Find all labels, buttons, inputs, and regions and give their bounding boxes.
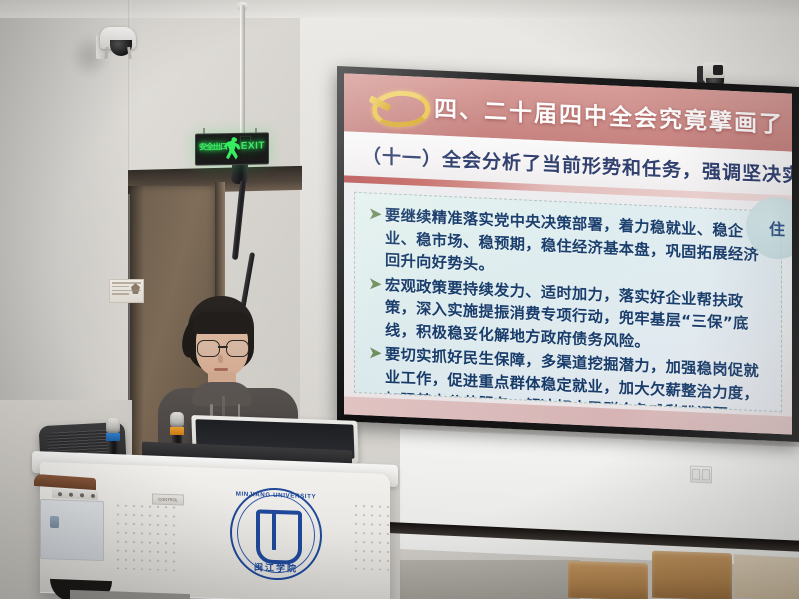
switch-rocker[interactable]	[692, 469, 700, 480]
hair-fringe	[192, 312, 252, 334]
microphone-head	[106, 418, 120, 433]
wooden-chair	[652, 551, 732, 599]
glasses-right-lens	[226, 340, 249, 357]
warning-icon	[131, 283, 140, 294]
ceiling-mount-pole	[240, 5, 245, 153]
exit-sign-chinese-label: 安全出口	[199, 142, 227, 151]
podium-drawer[interactable]	[40, 499, 104, 561]
camera-sensor	[713, 65, 723, 75]
camera-foot	[104, 47, 109, 59]
notice-line	[112, 290, 141, 292]
sickle-shape	[370, 89, 431, 128]
screen-bezel: 四、二十届四中全会究竟擘画了 （十一）全会分析了当前形势和任务，强调坚决实现 ➤…	[337, 66, 799, 442]
microphone-color-band	[170, 427, 184, 435]
nose	[218, 355, 223, 363]
lectern-podium: CONTROL MINJIANG UNIVERSITY 闽江学院	[22, 452, 400, 599]
dome-security-camera-icon	[96, 27, 138, 67]
glasses-left-lens	[197, 340, 220, 357]
wall-notice-sign	[109, 279, 144, 303]
podium-button[interactable]	[69, 492, 73, 496]
light-switch[interactable]	[690, 466, 712, 484]
microphone-head	[170, 412, 184, 427]
notice-line	[112, 286, 129, 288]
bullet-marker-icon: ➤	[369, 273, 385, 341]
emergency-exit-sign: 安全出口 EXIT	[195, 132, 269, 165]
notice-line	[112, 282, 141, 284]
lock-icon[interactable]	[50, 516, 59, 528]
floor	[400, 560, 580, 599]
switch-rocker[interactable]	[702, 469, 710, 480]
notice-line	[112, 293, 129, 295]
party-emblem-icon	[368, 85, 424, 124]
podium-button[interactable]	[91, 493, 95, 497]
wooden-chair	[568, 561, 648, 599]
projection-screen: 四、二十届四中全会究竟擘画了 （十一）全会分析了当前形势和任务，强调坚决实现 ➤…	[337, 66, 799, 457]
presentation-slide: 四、二十届四中全会究竟擘画了 （十一）全会分析了当前形势和任务，强调坚决实现 ➤…	[344, 73, 792, 434]
podium-button[interactable]	[80, 493, 84, 497]
podium-speaker-grille	[114, 501, 176, 571]
exit-sign-english-label: EXIT	[241, 141, 265, 151]
ceiling	[0, 0, 799, 18]
logo-book-mark	[256, 509, 302, 565]
microphone-color-band	[106, 433, 120, 441]
glasses-icon	[197, 340, 249, 355]
podium-speaker-grille	[352, 501, 394, 570]
lecture-hall-photo: 安全出口 EXIT 四、二十届四中全会	[0, 0, 799, 599]
student-desk	[734, 554, 799, 599]
bullet-marker-icon: ➤	[369, 203, 385, 271]
slide-body-panel: ➤ 要继续精准落实党中央决策部署，着力稳就业、稳企业、稳市场、稳预期，稳住经济基…	[354, 192, 782, 412]
mouth	[214, 368, 228, 371]
slide-title: 四、二十届四中全会究竟擘画了	[434, 89, 784, 139]
podium-button[interactable]	[58, 492, 62, 496]
